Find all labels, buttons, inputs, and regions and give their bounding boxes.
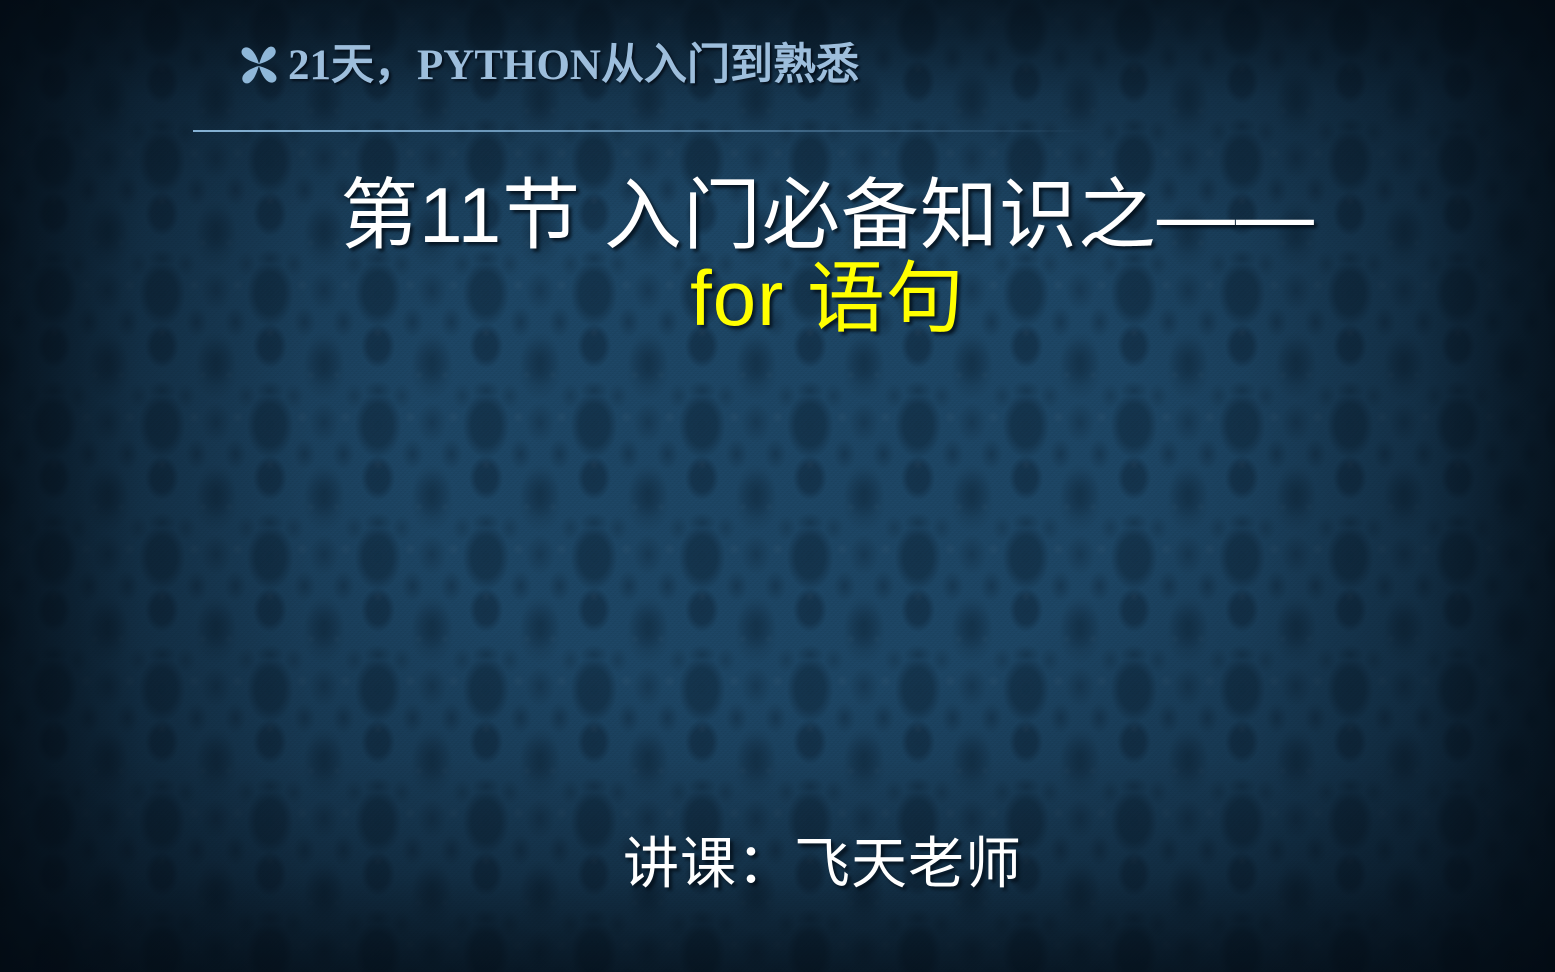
title-line-highlight: for 语句 xyxy=(0,255,1555,342)
title-block: 第11节 入门必备知识之—— for 语句 xyxy=(0,172,1555,343)
slide-content: 21天，PYTHON从入门到熟悉 第11节 入门必备知识之—— for 语句 讲… xyxy=(0,0,1555,972)
header-divider xyxy=(193,130,1093,132)
slide-header: 21天，PYTHON从入门到熟悉 xyxy=(236,42,859,88)
presenter-label: 讲课：飞天老师 xyxy=(0,833,1555,895)
four-petal-flower-icon xyxy=(236,42,282,88)
presentation-slide: 21天，PYTHON从入门到熟悉 第11节 入门必备知识之—— for 语句 讲… xyxy=(0,0,1555,972)
title-line-primary: 第11节 入门必备知识之—— xyxy=(0,172,1555,259)
header-title: 21天，PYTHON从入门到熟悉 xyxy=(288,44,859,87)
